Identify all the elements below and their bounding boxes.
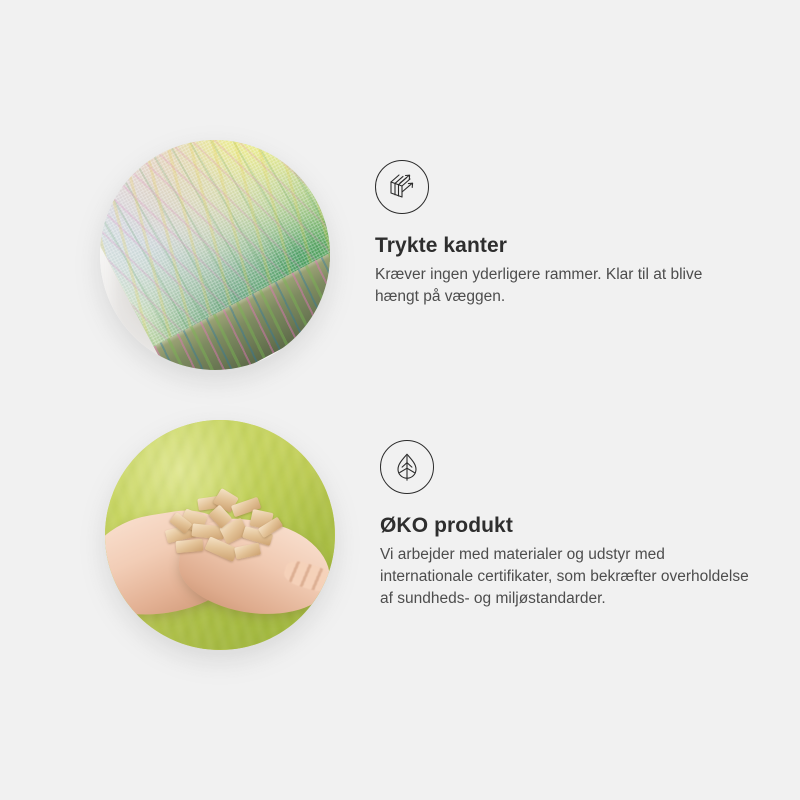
leaf-icon (380, 440, 434, 494)
canvas-corner-photo-wrapper (100, 140, 330, 370)
hands-with-wood-chips-photo-wrapper (105, 420, 335, 650)
feature-eco-product-description: Vi arbejder med materialer og udstyr med… (380, 544, 752, 610)
feature-list: Trykte kanter Kræver ingen yderligere ra… (0, 0, 800, 800)
wood-chip (234, 543, 261, 560)
feature-eco-product-content: ØKO produkt Vi arbejder med materialer o… (335, 420, 800, 610)
feature-eco-product-title: ØKO produkt (380, 514, 800, 538)
canvas-corner-photo (100, 140, 330, 370)
hands-with-wood-chips-photo (105, 420, 335, 650)
feature-printed-edges-description: Kræver ingen yderligere rammer. Klar til… (375, 264, 747, 308)
wood-chips-pile (160, 489, 293, 572)
feature-printed-edges-title: Trykte kanter (375, 234, 800, 258)
wood-chip (176, 539, 204, 554)
feature-printed-edges: Trykte kanter Kræver ingen yderligere ra… (0, 140, 800, 380)
feature-printed-edges-content: Trykte kanter Kræver ingen yderligere ra… (330, 140, 800, 308)
feature-eco-product: ØKO produkt Vi arbejder med materialer o… (0, 420, 800, 660)
stretched-canvas-edges-icon (375, 160, 429, 214)
